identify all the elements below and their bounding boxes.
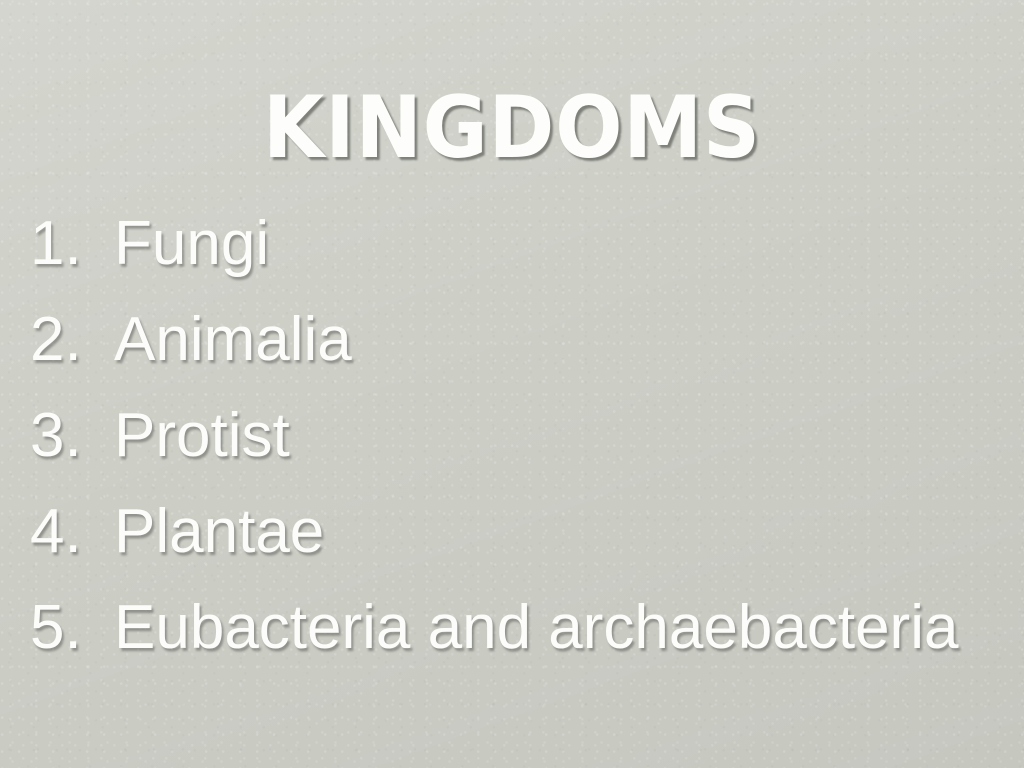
list-item-label: Animalia (114, 292, 352, 388)
list-item-label: Eubacteria and archaebacteria (114, 580, 958, 676)
presentation-slide: KINGDOMS 1. Fungi 2. Animalia 3. Protist… (0, 0, 1024, 768)
page-title: KINGDOMS (41, 85, 983, 171)
list-item: 3. Protist (0, 388, 1024, 484)
list-item: 1. Fungi (0, 196, 1024, 292)
list-item-number: 2. (30, 292, 114, 388)
list-item-label: Plantae (114, 484, 324, 580)
list-item: 4. Plantae (0, 484, 1024, 580)
list-item-number: 3. (30, 388, 114, 484)
list-item-number: 1. (30, 196, 114, 292)
list-item-label: Fungi (114, 196, 269, 292)
kingdom-list: 1. Fungi 2. Animalia 3. Protist 4. Plant… (0, 196, 1024, 676)
list-item-label: Protist (114, 388, 290, 484)
list-item: 5. Eubacteria and archaebacteria (0, 580, 1024, 676)
list-item-number: 5. (30, 580, 114, 676)
list-item: 2. Animalia (0, 292, 1024, 388)
list-item-number: 4. (30, 484, 114, 580)
